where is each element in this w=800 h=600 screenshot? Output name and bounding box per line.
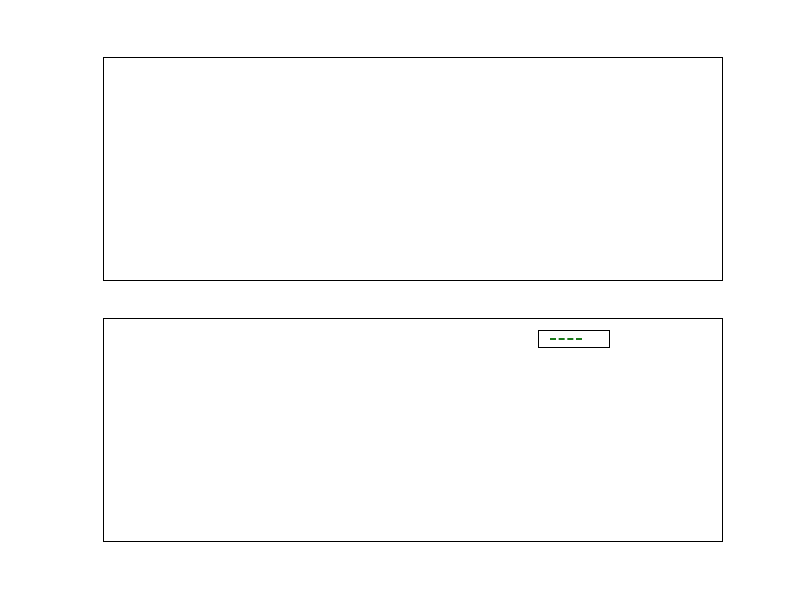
cumulative-step-curve	[104, 319, 722, 541]
figure-canvas	[0, 0, 800, 600]
histogram-bars	[104, 58, 722, 280]
legend-box	[538, 330, 610, 348]
mag-limit-dash-icon	[550, 338, 582, 340]
top-histogram-axes	[103, 57, 723, 281]
bottom-cumulative-axes	[103, 318, 723, 542]
cumulative-curve-svg	[104, 319, 722, 541]
